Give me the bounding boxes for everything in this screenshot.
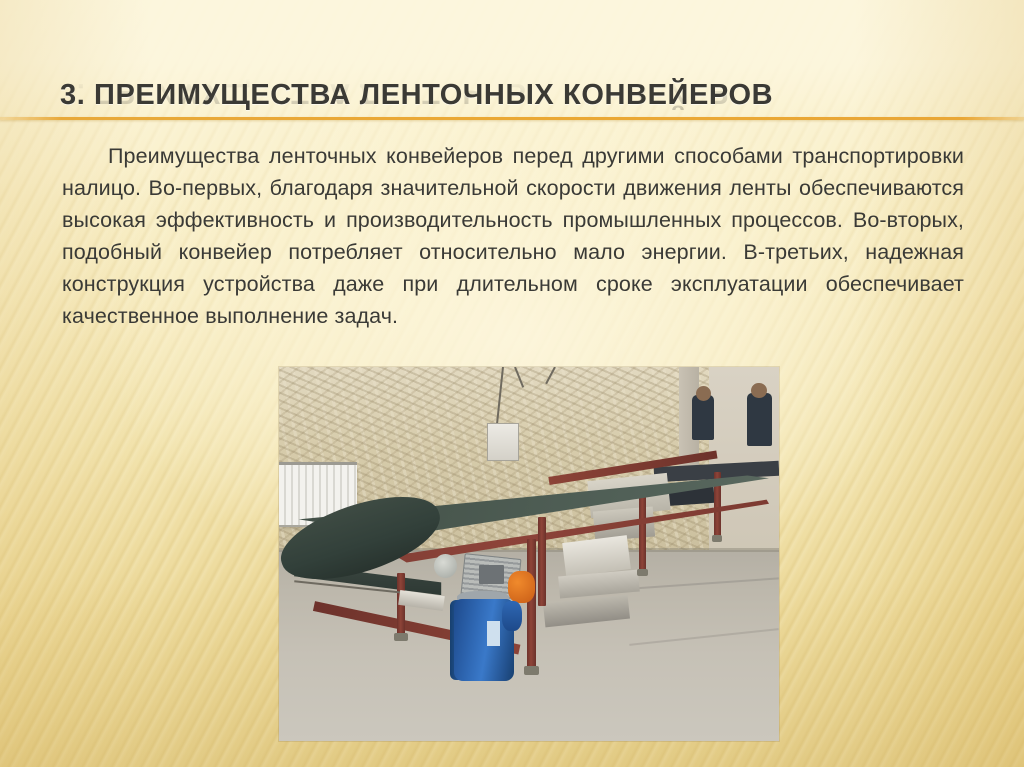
conveyor-photo [279,367,779,741]
title-divider-rule [0,117,1024,120]
photo-frame-leg-far-1 [639,490,646,572]
photo-frame-leg-near-3 [538,517,546,607]
photo-motor-nameplate [487,621,500,645]
photo-wall-electrical-box [487,423,519,461]
slide-body-paragraph: Преимущества ленточных конвейеров перед … [62,140,964,332]
slide-title: 3. ПРЕИМУЩЕСТВА ЛЕНТОЧНЫХ КОНВЕЙЕРОВ [60,78,980,112]
photo-frame-foot-near-2 [524,666,539,675]
photo-frame-foot-near-1 [394,633,408,641]
photo-motor-terminal-box [502,601,522,631]
photo-person-2 [747,393,772,445]
photo-frame-foot-far-2 [712,535,722,542]
photo-orange-coupling [508,571,535,603]
photo-frame-leg-near-2 [527,539,537,670]
photo-gearbox-plate [479,565,504,584]
photo-frame-foot-far-1 [637,569,648,576]
photo-person-1 [692,395,715,440]
presentation-slide: 3. ПРЕИМУЩЕСТВА ЛЕНТОЧНЫХ КОНВЕЙЕРОВ 3. … [0,0,1024,767]
photo-person-1-head [696,386,711,401]
